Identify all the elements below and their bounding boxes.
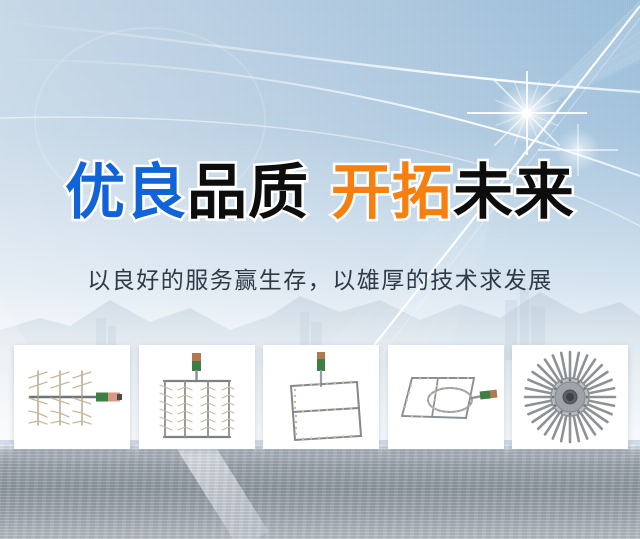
product-card-3[interactable] xyxy=(263,345,379,449)
page-title: 优良品质 开拓未来 xyxy=(0,163,640,223)
product-image-flat-frame-with-ring xyxy=(394,360,498,434)
headline-segment-2: 品质 xyxy=(187,158,309,228)
product-card-2[interactable] xyxy=(139,345,255,449)
headline-segment-4: 未来 xyxy=(453,158,575,228)
product-image-radial-star-burst-wheel xyxy=(521,349,619,445)
headline-segment-3: 开拓 xyxy=(331,158,453,228)
product-image-multi-row-comb-tine-rack xyxy=(20,355,124,439)
product-card-4[interactable] xyxy=(388,345,504,449)
product-card-1[interactable] xyxy=(14,345,130,449)
ground-light-stripe xyxy=(160,444,268,539)
promo-banner: 优良品质 开拓未来 以良好的服务赢生存，以雄厚的技术求发展 xyxy=(0,0,640,539)
headline-segment-gap xyxy=(309,158,331,228)
product-image-rectangular-two-tier-frame xyxy=(277,350,365,444)
page-subtitle: 以良好的服务赢生存，以雄厚的技术求发展 xyxy=(0,261,640,295)
product-image-double-column-tine-rack xyxy=(154,351,240,443)
product-card-row xyxy=(14,345,628,449)
headline-segment-1: 优良 xyxy=(65,158,187,228)
ground-pavement xyxy=(0,444,640,539)
product-card-5[interactable] xyxy=(512,345,628,449)
